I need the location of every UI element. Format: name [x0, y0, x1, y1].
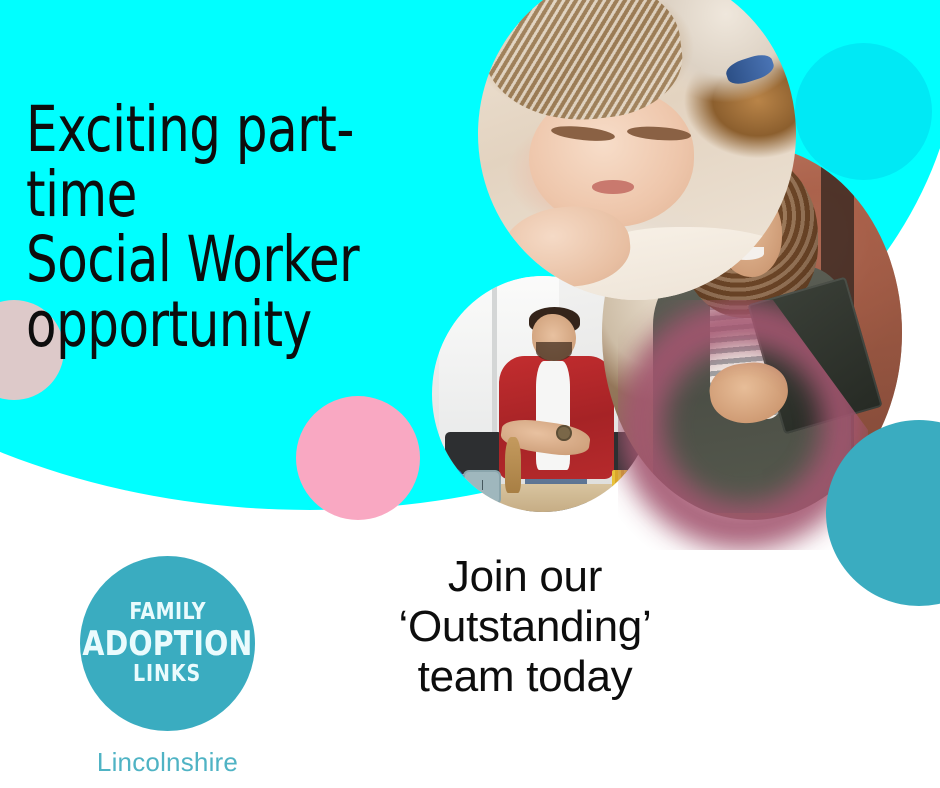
call-to-action-text: Join our ‘Outstanding’ team today — [330, 552, 720, 702]
logo-line-links: LINKS — [133, 663, 201, 686]
page-title: Exciting part-time Social Worker opportu… — [26, 98, 440, 358]
logo-line-family: FAMILY — [129, 601, 206, 624]
brand-logo: FAMILY ADOPTION LINKS Lincolnshire — [80, 556, 255, 778]
blue-accent — [724, 51, 777, 88]
logo-line-adoption: ADOPTION — [82, 626, 252, 663]
logo-circle: FAMILY ADOPTION LINKS — [80, 556, 255, 731]
mouth — [592, 180, 633, 193]
sleeping-baby-photo — [478, 0, 796, 300]
beard — [536, 342, 572, 361]
recruitment-poster: Exciting part-time Social Worker opportu… — [0, 0, 940, 788]
pink-accent-circle — [296, 396, 420, 520]
logo-county-label: Lincolnshire — [80, 747, 255, 778]
desk-clock — [463, 470, 501, 505]
window-mullion — [492, 276, 498, 441]
wooden-figurine — [505, 437, 521, 494]
wristwatch — [556, 425, 572, 442]
